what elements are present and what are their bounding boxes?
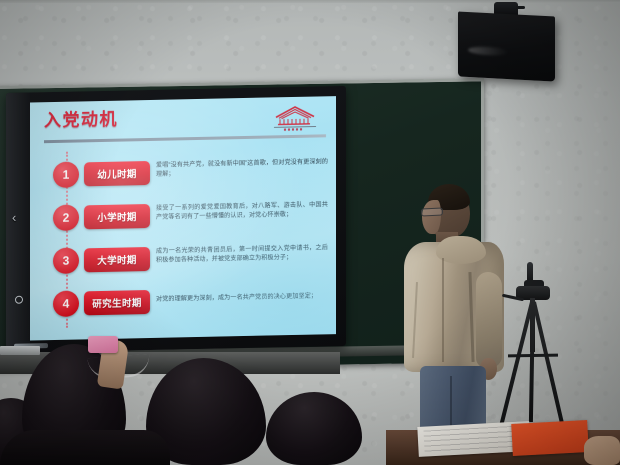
tripod-brace: [508, 354, 558, 358]
timeline-row[interactable]: 3 大学时期 成为一名光荣的共青团员后，第一时间提交入党申请书，之后积极参加各种…: [44, 242, 326, 288]
step-number-badge: 3: [53, 247, 79, 274]
display-screen[interactable]: 入党动机: [30, 96, 336, 340]
title-divider: [44, 134, 326, 142]
presenter-face: [422, 200, 441, 234]
smartphone: [88, 336, 118, 353]
stage-description: 接受了一系列的爱党爱国教育后，对八路军、游击队、中国共产党等名词有了一些懵懂的认…: [156, 200, 328, 222]
stage-label-chip: 小学时期: [84, 204, 150, 229]
stage-label-chip: 研究生时期: [84, 290, 150, 315]
classroom-photo: ‹ 入党动机: [0, 0, 620, 465]
ceiling-edge: [0, 0, 620, 3]
timeline-row[interactable]: 2 小学时期 接受了一系列的爱党爱国教育后，对八路军、游击队、中国共产党等名词有…: [44, 199, 326, 245]
stage-description: 成为一名光荣的共青团员后，第一时间提交入党申请书，之后积极参加各种活动，并被党支…: [156, 243, 328, 265]
stage-description: 爱唱“没有共产党，就没有新中国”这首歌，但对党没有更深刻的理解；: [156, 157, 328, 179]
orange-folder: [511, 420, 589, 456]
ceiling-speaker-box: [458, 11, 555, 81]
speaker-arm: [516, 6, 525, 9]
school-emblem-logo: [268, 102, 322, 133]
laptop-edge: [0, 346, 40, 355]
chevron-left-icon[interactable]: ‹: [12, 211, 16, 224]
glasses-icon: [421, 207, 443, 216]
tripod-leg: [529, 302, 535, 422]
paper-handwriting: [423, 425, 524, 452]
audience-hand: [584, 436, 620, 465]
display-bezel-left: [6, 92, 30, 353]
slide-canvas: 入党动机: [30, 96, 336, 340]
step-number-badge: 4: [53, 290, 79, 317]
interactive-whiteboard[interactable]: ‹ 入党动机: [6, 86, 346, 353]
timeline-list: 1 幼儿时期 爱唱“没有共产党，就没有新中国”这首歌，但对党没有更深刻的理解； …: [44, 144, 326, 332]
stage-label-chip: 大学时期: [84, 247, 150, 272]
jacket-zipper: [442, 258, 444, 362]
speaker-highlight: [468, 46, 508, 56]
step-number-badge: 1: [53, 161, 79, 188]
timeline-row[interactable]: 4 研究生时期 对党的理解更为深刻，成为一名共产党员的决心更加坚定；: [44, 285, 326, 331]
timeline-row[interactable]: 1 幼儿时期 爱唱“没有共产党，就没有新中国”这首歌，但对党没有更深刻的理解；: [44, 156, 326, 202]
stage-label-chip: 幼儿时期: [84, 161, 150, 186]
stage-description: 对党的理解更为深刻，成为一名共产党员的决心更加坚定；: [156, 291, 328, 304]
step-number-badge: 2: [53, 204, 79, 231]
audience-shoulders: [0, 430, 170, 465]
